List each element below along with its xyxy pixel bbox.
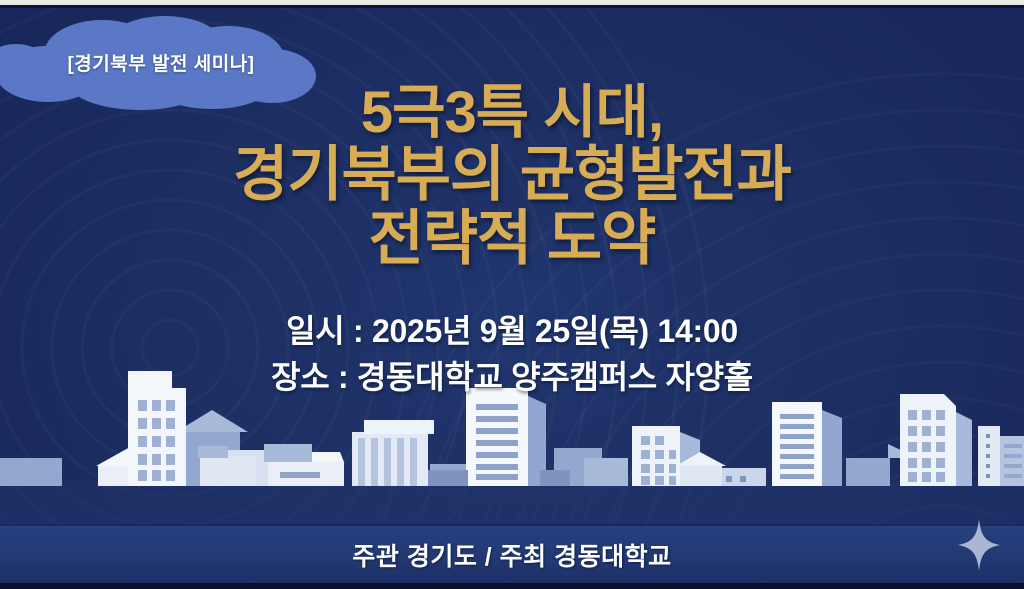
seminar-poster: [경기북부 발전 세미나] 5극3특 시대, 경기북부의 균형발전과 전략적 도…	[0, 0, 1024, 589]
title-line-2: 경기북부의 균형발전과	[0, 143, 1024, 207]
top-divider-rule	[0, 5, 1024, 8]
event-venue: 장소 : 경동대학교 양주캠퍼스 자양홀	[0, 354, 1024, 400]
title-line-3: 전략적 도약	[0, 207, 1024, 271]
poster-title: 5극3특 시대, 경기북부의 균형발전과 전략적 도약	[0, 82, 1024, 271]
sparkle-svg	[958, 519, 1000, 571]
poster-info: 일시 : 2025년 9월 25일(목) 14:00 장소 : 경동대학교 양주…	[0, 308, 1024, 401]
cloud-badge: [경기북부 발전 세미나]	[0, 14, 320, 110]
footer-organizers: 주관 경기도 / 주최 경동대학교	[352, 537, 671, 573]
cloud-badge-label: [경기북부 발전 세미나]	[0, 14, 320, 110]
four-point-sparkle-icon	[958, 519, 1000, 571]
bottom-divider-rule	[0, 583, 1024, 589]
event-datetime: 일시 : 2025년 9월 25일(목) 14:00	[0, 308, 1024, 354]
poster-footer-band: 주관 경기도 / 주최 경동대학교	[0, 524, 1024, 583]
